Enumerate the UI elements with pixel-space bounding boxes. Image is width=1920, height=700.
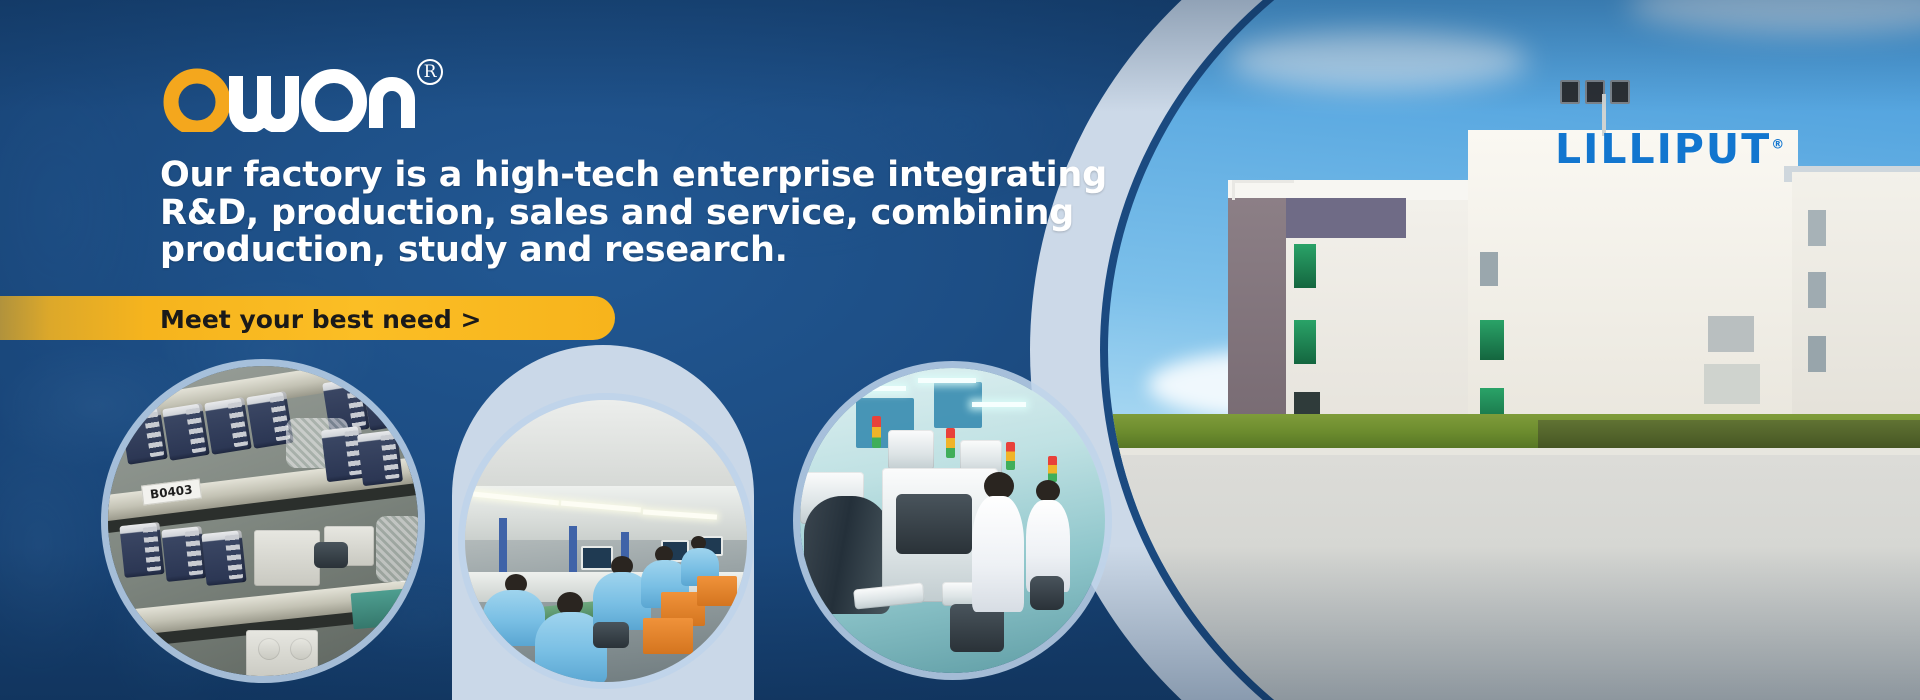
building-sign-registered: ® — [1771, 137, 1786, 152]
building-sign: LILLIPUT® — [1555, 125, 1786, 173]
factory-exterior-photo: LILLIPUT® — [1108, 0, 1920, 700]
headline-line-2: R&D, production, sales and service, comb… — [160, 195, 970, 233]
owon-wordmark-icon — [160, 58, 430, 132]
headline: Our factory is a high-tech enterprise in… — [160, 157, 970, 270]
photo-assembly-line[interactable] — [465, 400, 747, 682]
owon-logo[interactable] — [160, 58, 430, 132]
floodlight-icon — [1610, 80, 1630, 104]
registered-trademark-icon: R — [417, 59, 443, 85]
factory-photo-stage: LILLIPUT® — [1030, 0, 1920, 700]
building-sign-text: LILLIPUT — [1555, 125, 1771, 173]
headline-line-1: Our factory is a high-tech enterprise in… — [160, 157, 970, 195]
photo-warehouse-shelving[interactable]: B0403 — [108, 366, 418, 676]
headline-line-3: production, study and research. — [160, 232, 970, 270]
floodlight-icon — [1560, 80, 1580, 104]
cta-button-label: Meet your best need > — [160, 305, 481, 334]
owon-factory-banner: LILLIPUT® — [0, 0, 1920, 700]
floodlight-group — [1560, 80, 1630, 104]
cta-button[interactable]: Meet your best need > — [0, 296, 615, 340]
photo-smt-production[interactable] — [800, 368, 1105, 673]
pavement — [1108, 455, 1920, 700]
